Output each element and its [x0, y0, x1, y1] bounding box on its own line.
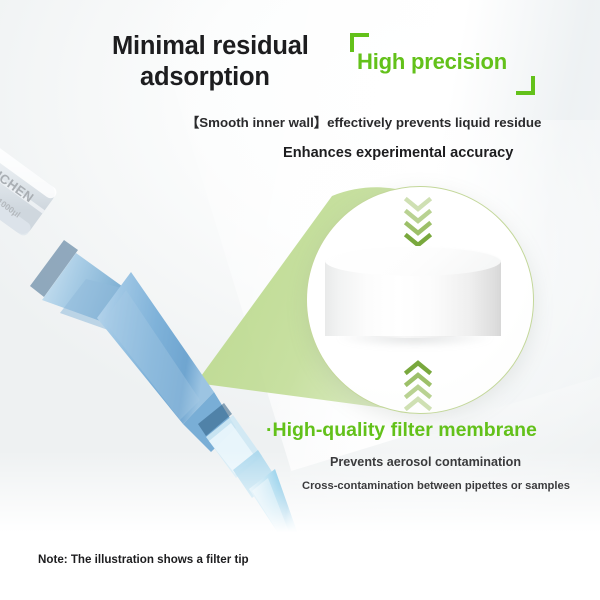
- bottom-fade-overlay: [0, 450, 600, 600]
- headline-line-1: Minimal residual: [112, 32, 309, 60]
- feature-title: ·High-quality filter membrane: [266, 419, 537, 442]
- filter-membrane-cylinder: [325, 246, 501, 350]
- feature-detail-2: Cross-contamination between pipettes or …: [302, 480, 570, 492]
- bracket-bottom-right-icon: [516, 76, 535, 95]
- product-poster: ICHEN 1000μl Minimal residual adsorption…: [0, 0, 600, 600]
- page-title: Minimal residual adsorption: [112, 31, 362, 93]
- footnote: Note: The illustration shows a filter ti…: [38, 553, 249, 566]
- subtitle-smooth-inner-wall: 【Smooth inner wall】effectively prevents …: [186, 112, 541, 131]
- cylinder-top-face: [325, 246, 501, 276]
- subtitle-accuracy: Enhances experimental accuracy: [283, 145, 513, 161]
- high-precision-badge: High precision: [348, 30, 534, 96]
- headline-line-2: adsorption: [112, 62, 362, 93]
- flow-arrows-up-icon: [401, 360, 435, 412]
- badge-label: High precision: [357, 49, 507, 75]
- feature-detail-1: Prevents aerosol contamination: [330, 455, 521, 469]
- flow-arrows-down-icon: [401, 196, 435, 248]
